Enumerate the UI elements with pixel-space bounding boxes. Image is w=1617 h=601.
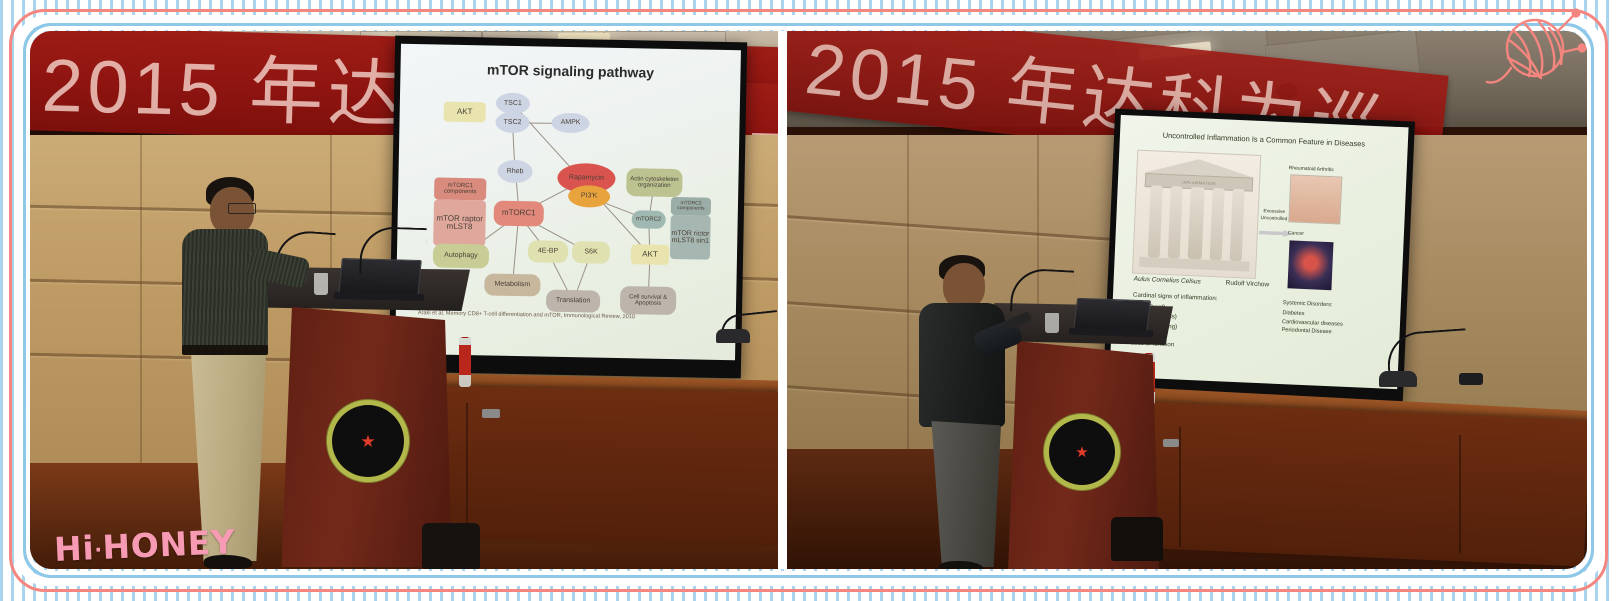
speaker-legs bbox=[927, 421, 1001, 567]
pathway-node: Cell survival & Apoptosis bbox=[620, 286, 677, 315]
pathway-node: mTORC2 components bbox=[671, 197, 711, 216]
photo-collage: 2015 年达科为巡 班一重 mTOR signaling pathway AK… bbox=[0, 0, 1617, 601]
pathway-node: AKT bbox=[444, 102, 486, 123]
speaker-left bbox=[170, 177, 290, 569]
pathway-node: mTORC1 bbox=[494, 201, 544, 227]
bag-on-floor bbox=[1111, 517, 1163, 561]
pathway-node: Translation bbox=[546, 290, 600, 313]
university-emblem: ★ bbox=[1049, 419, 1115, 485]
caryatid bbox=[1168, 186, 1183, 258]
speaker-belt bbox=[182, 345, 268, 355]
photo-area: 2015 年达科为巡 班一重 mTOR signaling pathway AK… bbox=[30, 31, 1587, 569]
photo-left: 2015 年达科为巡 班一重 mTOR signaling pathway AK… bbox=[30, 31, 778, 569]
slide-title: mTOR signaling pathway bbox=[400, 60, 740, 83]
slide-title: Uncontrolled Inflammation Is a Common Fe… bbox=[1120, 129, 1408, 151]
arrow-label-line2: Uncontrolled bbox=[1260, 216, 1287, 224]
logo-text-hi: Hi bbox=[53, 528, 95, 569]
stage-front bbox=[1130, 402, 1587, 567]
pathway-node: 4E-BP bbox=[528, 240, 568, 263]
microphone-base bbox=[716, 329, 750, 343]
pathway-node: mTOR rictor mLST8 sin1 bbox=[670, 215, 711, 260]
speaker-torso bbox=[919, 303, 1005, 427]
label-cancer: Cancer bbox=[1288, 230, 1304, 237]
microphone-base bbox=[1379, 371, 1417, 387]
systemic-list: DiabetesCardiovascular diseasesPeriodont… bbox=[1281, 309, 1343, 338]
pathway-node: Actin cytoskeleton organization bbox=[626, 168, 683, 197]
yarn-ball-decoration bbox=[1475, 8, 1595, 116]
university-emblem: ★ bbox=[332, 405, 404, 477]
name-virchow: Rudolf Virchow bbox=[1225, 280, 1269, 289]
handheld-microphone bbox=[1008, 311, 1032, 329]
pathway-node: AMPK bbox=[551, 113, 589, 134]
systemic-heading: Systemic Disorders: bbox=[1283, 300, 1333, 308]
photo-right: 2015 年达科为巡 班一重庆分站 Uncontrolled Inflammat… bbox=[787, 31, 1587, 569]
pathway-node: Autophagy bbox=[433, 243, 489, 268]
pathway-node: mTOR raptor mLST8 bbox=[433, 199, 486, 246]
stage-panel-line bbox=[1459, 435, 1461, 553]
caryatid bbox=[1230, 189, 1245, 261]
logo-text-honey: HONEY bbox=[102, 522, 237, 567]
stage-panel-line bbox=[1179, 427, 1181, 547]
caryatid bbox=[1148, 185, 1163, 257]
pathway-node: S6K bbox=[572, 241, 610, 264]
caryatid bbox=[1210, 188, 1225, 260]
wall-panel-line bbox=[140, 135, 142, 465]
stage-knob bbox=[482, 409, 500, 418]
arrow-label: Excessive Uncontrolled bbox=[1260, 209, 1287, 224]
emblem-star: ★ bbox=[360, 433, 375, 450]
name-celsus: Aulus Cornelius Celsus bbox=[1134, 276, 1201, 286]
temple-illustration: INFLAMMATION bbox=[1132, 150, 1261, 279]
bag-on-floor bbox=[422, 523, 480, 569]
speaker-glasses bbox=[228, 203, 256, 214]
pathway-node: Metabolism bbox=[484, 273, 540, 296]
pathway-node: Rheb bbox=[497, 160, 532, 184]
label-rheumatoid-arthritis: Rheumatoid Arthritis bbox=[1289, 165, 1334, 173]
torso-anatomy-photo bbox=[1287, 240, 1333, 290]
pathway-node: mTORC2 bbox=[632, 210, 666, 229]
wall-panel-line bbox=[907, 135, 909, 465]
pathway-node: mTORC1 components bbox=[434, 177, 486, 200]
drinking-cup bbox=[1045, 313, 1059, 333]
caryatid bbox=[1188, 187, 1205, 260]
yarn-ball-icon bbox=[1475, 8, 1595, 116]
speaker-right bbox=[913, 255, 1029, 569]
pathway-node: TSC2 bbox=[495, 112, 529, 134]
pathway-node: AKT bbox=[631, 244, 669, 265]
hi-honey-watermark: Hi·HONEY bbox=[53, 522, 236, 569]
hand-photo bbox=[1288, 174, 1342, 224]
emblem-star: ★ bbox=[1075, 445, 1088, 460]
desk-device bbox=[1459, 373, 1483, 385]
pathway-node: PI3'K bbox=[568, 185, 610, 208]
